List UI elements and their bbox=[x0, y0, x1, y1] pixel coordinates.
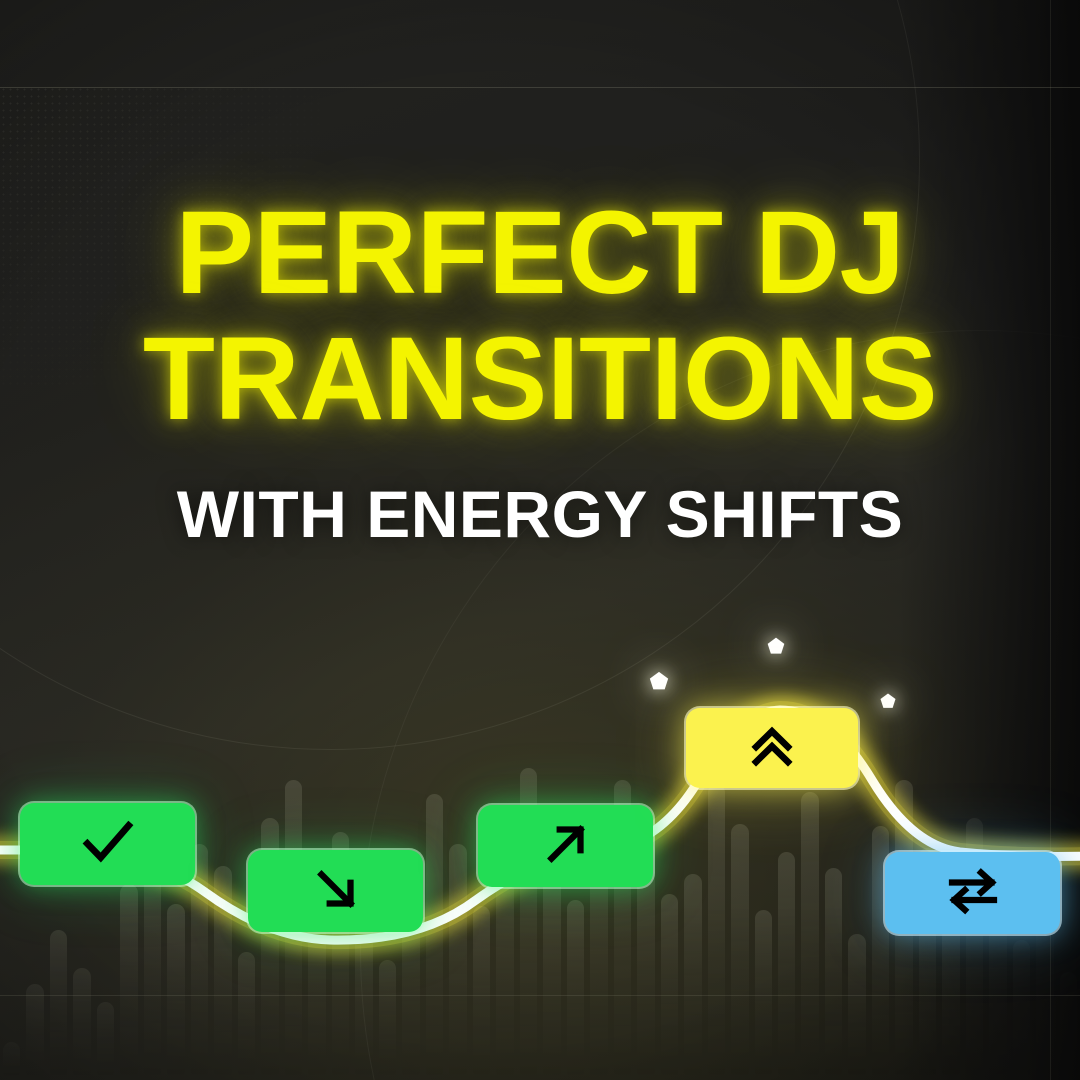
headline-block: PERFECT DJ TRANSITIONS WITH ENERGY SHIFT… bbox=[0, 196, 1080, 547]
flow-step-card-energy-drop[interactable] bbox=[248, 850, 423, 932]
arrow-up-right-icon bbox=[537, 815, 595, 878]
flow-step-card-energy-peak[interactable] bbox=[686, 708, 858, 788]
guide-line-top bbox=[0, 87, 1080, 88]
sparkle-pentagon-icon bbox=[879, 692, 897, 710]
flow-step-card-track-swap[interactable] bbox=[885, 852, 1060, 934]
swap-horizontal-icon bbox=[943, 861, 1003, 926]
check-icon bbox=[77, 811, 139, 878]
flow-step-card-beatmatch-confirmed[interactable] bbox=[20, 803, 195, 885]
page-subtitle: WITH ENERGY SHIFTS bbox=[0, 481, 1080, 547]
poster-canvas: PERFECT DJ TRANSITIONS WITH ENERGY SHIFT… bbox=[0, 0, 1080, 1080]
page-title-line-2: TRANSITIONS bbox=[0, 322, 1080, 436]
flow-step-card-energy-rise[interactable] bbox=[478, 805, 653, 887]
chevron-double-up-icon bbox=[743, 717, 801, 780]
arrow-down-right-icon bbox=[307, 860, 365, 923]
sparkle-pentagon-icon bbox=[766, 636, 786, 656]
sparkle-pentagon-icon bbox=[648, 670, 670, 692]
page-title-line-1: PERFECT DJ bbox=[0, 196, 1080, 310]
